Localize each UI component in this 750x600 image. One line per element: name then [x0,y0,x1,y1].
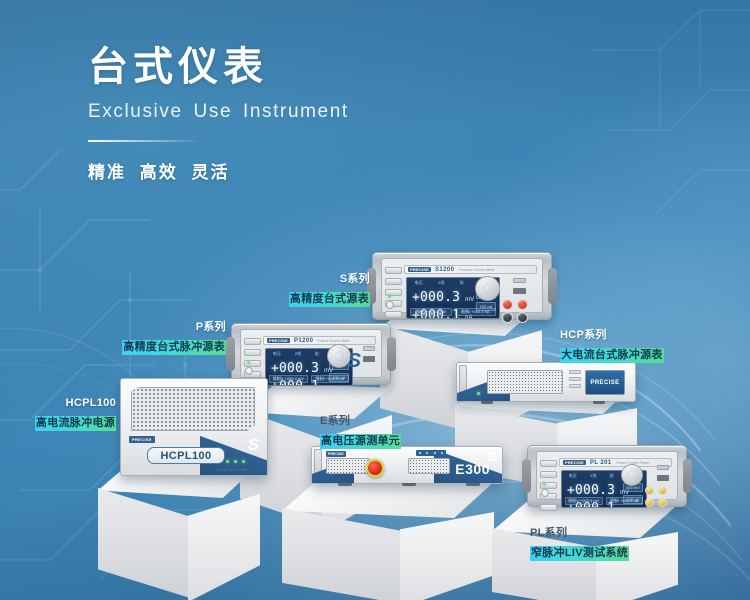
terminal-red [502,299,513,310]
terminal-yellow [658,498,667,507]
s-series-brand-bar: PRECISE S1200 Precision Source Meter [404,265,537,274]
brand-s-logo-icon: S [248,435,259,455]
s-series-usb-port[interactable] [513,278,526,283]
e300-brand-badge: PRECISE [326,451,346,457]
pl-series-rotary-knob[interactable] [621,464,643,486]
brand-s-logo-icon: S [487,449,496,464]
hcp-status-led [477,392,480,395]
power-led [388,295,391,298]
label-hcpl100-title: HCPL100 [8,396,116,411]
s-primary-value: +000.3 [412,289,460,307]
label-s-series-title: S系列 [250,272,370,287]
label-p-series: P系列 高精度台式脉冲源表 [108,320,226,356]
s-primary-unit: mV [465,297,474,303]
e300-vent-grille-right [408,458,450,474]
s-limit-v: 限制V +000.3 mV [410,308,452,316]
terminal-yellow [645,486,654,495]
s-series-aux-port[interactable] [513,288,526,294]
banner-header: 台式仪表 Exclusive Use Instrument 精准 高效 灵活 [88,44,349,183]
pl-series-terminals-top[interactable] [645,486,667,495]
hcp-button-column[interactable] [569,370,581,391]
p-series-model-subtitle: Pulsed Source Meter [317,339,350,343]
p-series-brand-bar: PRECISE P1200 Pulsed Source Meter [263,336,376,345]
hcp-screen[interactable]: PRECISE [585,370,625,395]
hcpl100-model-plate: HCPL100 [147,447,225,464]
pl-series-brand-bar: PRECISE PL 201 Pulsed Current Tester [559,458,672,467]
s-limit-i: 限制I +000.3 nA [455,308,497,316]
s-series-model: S1200 [435,267,454,273]
hcpl100-vent-grille [131,387,255,431]
s-tab-1: 2线 [438,280,445,286]
rack-foot [338,483,352,486]
s-tab-2: 前 [460,280,464,286]
p-series-model: P1200 [294,338,313,344]
s-series-terminals-bottom[interactable] [502,312,528,323]
product-pl-series[interactable]: PRECISE PL 201 Pulsed Current Tester 电压 … [527,445,687,507]
power-led [247,361,250,364]
pl-tab-2: 前 [610,473,614,479]
terminal-black [502,312,513,323]
label-s-series-desc: 高精度台式源表 [289,292,370,307]
label-p-series-title: P系列 [108,320,226,335]
hcpl100-brand-badge: PRECISE [129,436,155,443]
pl-limit-i: 限制I +000.3 nA [606,497,644,505]
handle-left-icon [226,337,235,371]
pl-series-button-column[interactable] [540,460,557,515]
p-series-usb-port[interactable] [363,346,375,351]
label-p-series-desc: 高精度台式脉冲源表 [122,340,226,355]
page-subtitle: Exclusive Use Instrument [88,101,349,123]
pl-tab-1: 2线 [590,473,597,479]
label-hcpl100-desc: 高电流脉冲电源 [35,416,116,431]
p-series-aux-port[interactable] [363,356,375,362]
p-tab-1: 2线 [295,351,302,357]
rack-foot [402,483,416,486]
product-hcpl100[interactable]: PRECISE HCPL100 S Power Cycle Output [120,378,268,476]
p-tab-2: 前 [315,351,319,357]
rack-foot [593,401,605,404]
pl-limit-v: 限制V +000.3 mV [565,497,603,505]
s-series-terminals-top[interactable] [502,299,528,310]
handle-left-icon [522,459,531,493]
label-pl-series-desc: 窄脉冲LIV测试系统 [530,546,629,561]
brand-s-logo-icon: S [348,350,361,373]
label-e-series-desc: 高电压源测单元 [320,434,401,449]
e300-vent-grille-left [326,458,370,474]
product-hcp-series[interactable]: PRECISE [456,362,636,402]
pl-series-model: PL 201 [590,460,612,466]
terminal-red [517,299,528,310]
hcp-screen-text: PRECISE [590,380,619,386]
p-limit-i: 限制I +000.3 nA [311,375,350,383]
handle-right-icon [683,459,692,493]
hcpl100-footnote: Power Cycle Output [217,468,249,472]
s-series-rotary-knob[interactable] [475,276,500,301]
page-tagline: 精准 高效 灵活 [88,158,349,183]
terminal-yellow [645,498,654,507]
brand-badge: PRECISE [267,338,290,343]
p-tab-0: 电压 [273,351,281,357]
label-hcpl100: HCPL100 高电流脉冲电源 [8,396,116,432]
hcpl100-indicator-leds [226,460,245,463]
label-hcp-series-title: HCP系列 [560,328,700,343]
power-led [543,483,546,486]
handle-right-icon [548,268,557,305]
product-e-series[interactable]: PRECISE E300 S [311,446,503,484]
e300-model: E300 [455,461,490,477]
e300-status-strip [416,450,446,456]
header-divider [88,140,196,142]
pl-series-terminals-bottom[interactable] [645,498,667,507]
terminal-black [517,312,528,323]
banner-stage: 台式仪表 Exclusive Use Instrument 精准 高效 灵活 [0,0,750,600]
p-limit-v: 限制V +000.3 mV [269,375,308,383]
product-p-series[interactable]: PRECISE P1200 Pulsed Source Meter 电压 2线 … [231,323,391,385]
pl-series-power-button[interactable] [541,489,549,497]
terminal-yellow [658,486,667,495]
pl-series-aux-port[interactable] [657,475,669,481]
brand-badge: PRECISE [408,267,431,272]
s-series-model-subtitle: Precision Source Meter [458,268,494,272]
e300-emergency-stop-button[interactable] [366,459,384,477]
label-e-series-title: E系列 [320,414,460,429]
brand-badge: PRECISE [563,460,586,465]
handle-right-icon [387,337,396,371]
label-e-series: E系列 高电压源测单元 [320,414,460,450]
label-pl-series-title: PL系列 [530,526,680,541]
rack-foot [466,483,480,486]
rack-foot [481,401,493,404]
label-hcp-series: HCP系列 大电流台式脉冲源表 [560,328,700,364]
product-s-series[interactable]: PRECISE S1200 Precision Source Meter 电压 … [372,252,552,320]
pl-tab-0: 电压 [569,473,577,479]
p-series-power-button[interactable] [245,367,253,375]
hcpl100-model: HCPL100 [160,450,211,462]
label-pl-series: PL系列 窄脉冲LIV测试系统 [530,526,680,562]
s-series-power-button[interactable] [386,301,394,309]
pl-series-usb-port[interactable] [657,465,669,470]
label-hcp-series-desc: 大电流台式脉冲源表 [560,348,664,363]
hcp-vent-grille [487,370,563,394]
s-tab-0: 电压 [415,280,423,286]
label-s-series: S系列 高精度台式源表 [250,272,370,308]
page-title: 台式仪表 [88,44,349,90]
